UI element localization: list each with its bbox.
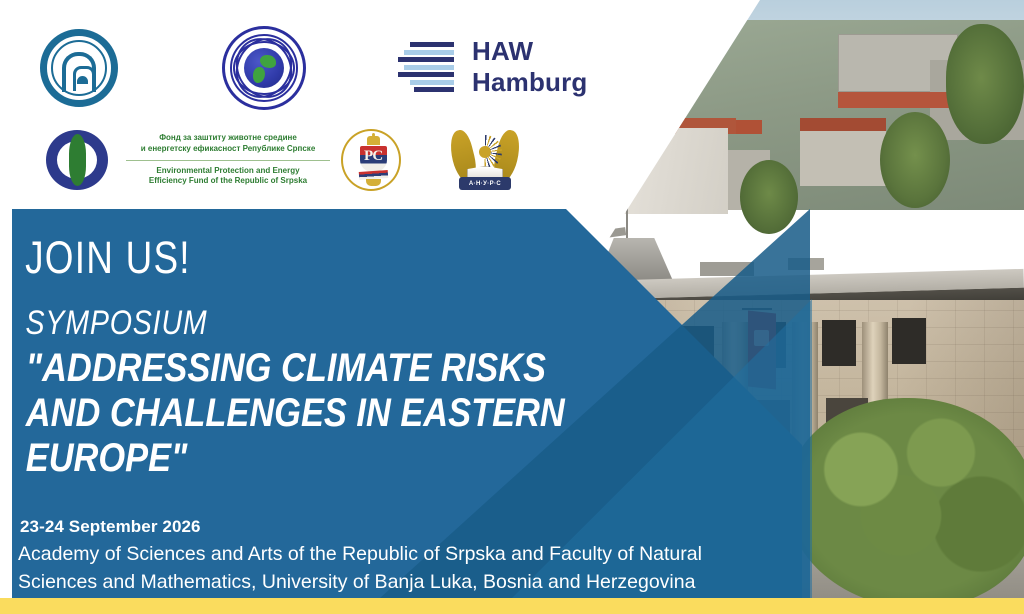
symposium-poster: HAW Hamburg Фонд за заштиту животне сред…	[0, 0, 1024, 614]
anurs-banner-text: А·Н·У·Р·С	[469, 181, 501, 187]
page-title: "ADDRESSING CLIMATE RISKS AND CHALLENGES…	[12, 340, 614, 480]
photo-foreground-tree	[786, 398, 1024, 600]
logo-republic-of-srpska-coat-of-arms: РС	[341, 129, 401, 191]
photo-red-roof-a	[838, 92, 958, 108]
fund-name-cyrillic: Фонд за заштиту животне средине и енерге…	[120, 133, 336, 155]
announcement-text: JOIN US! SYMPOSIUM "ADDRESSING CLIMATE R…	[12, 209, 712, 480]
join-us-kicker: JOIN US!	[12, 209, 586, 280]
anurs-banner: А·Н·У·Р·С	[459, 177, 511, 190]
leaf-icon	[69, 134, 86, 186]
sunburst-core	[479, 146, 491, 158]
pmf-seal-ring	[222, 26, 306, 110]
ubl-emblem-icon	[62, 52, 96, 92]
logo-anurs-academy: А·Н·У·Р·С	[452, 124, 518, 192]
logo-faculty-natural-sciences-mathematics	[222, 26, 306, 110]
fund-divider	[126, 160, 330, 161]
haw-bars-icon	[396, 42, 454, 92]
event-venue: Academy of Sciences and Arts of the Repu…	[18, 540, 758, 597]
logo-environmental-energy-fund: Фонд за заштиту животне средине и енерге…	[46, 128, 336, 192]
haw-hamburg-wordmark: HAW Hamburg	[472, 36, 636, 98]
venue-line-2: Sciences and Mathematics, University of …	[18, 568, 758, 596]
photo-tree-background-1	[946, 24, 1024, 144]
rs-monogram: РС	[364, 148, 382, 165]
crown-icon	[367, 136, 380, 145]
logo-haw-hamburg: HAW Hamburg	[396, 40, 636, 94]
event-dates: 23-24 September 2026	[20, 517, 201, 537]
logo-university-of-banja-luka	[40, 29, 118, 107]
rs-seal-ring: РС	[341, 129, 401, 191]
ubl-seal-ring	[40, 29, 118, 107]
photo-tree-background-2	[880, 112, 950, 208]
fund-text-block: Фонд за заштиту животне средине и енерге…	[120, 133, 336, 187]
fund-name-english: Environmental Protection and Energy Effi…	[120, 166, 336, 188]
venue-line-1: Academy of Sciences and Arts of the Repu…	[18, 540, 758, 568]
fund-emblem-icon	[46, 130, 108, 190]
anurs-emblem: А·Н·У·Р·С	[452, 124, 518, 192]
orbit-ring-3	[225, 27, 304, 108]
rs-base-ornament	[366, 179, 381, 186]
bottom-accent-bar	[0, 598, 1024, 614]
partner-logos: HAW Hamburg Фонд за заштиту животне сред…	[0, 0, 760, 209]
photo-red-roof-b	[800, 118, 886, 131]
event-type-label: SYMPOSIUM	[12, 280, 600, 340]
ubl-emblem-dot	[77, 76, 88, 84]
